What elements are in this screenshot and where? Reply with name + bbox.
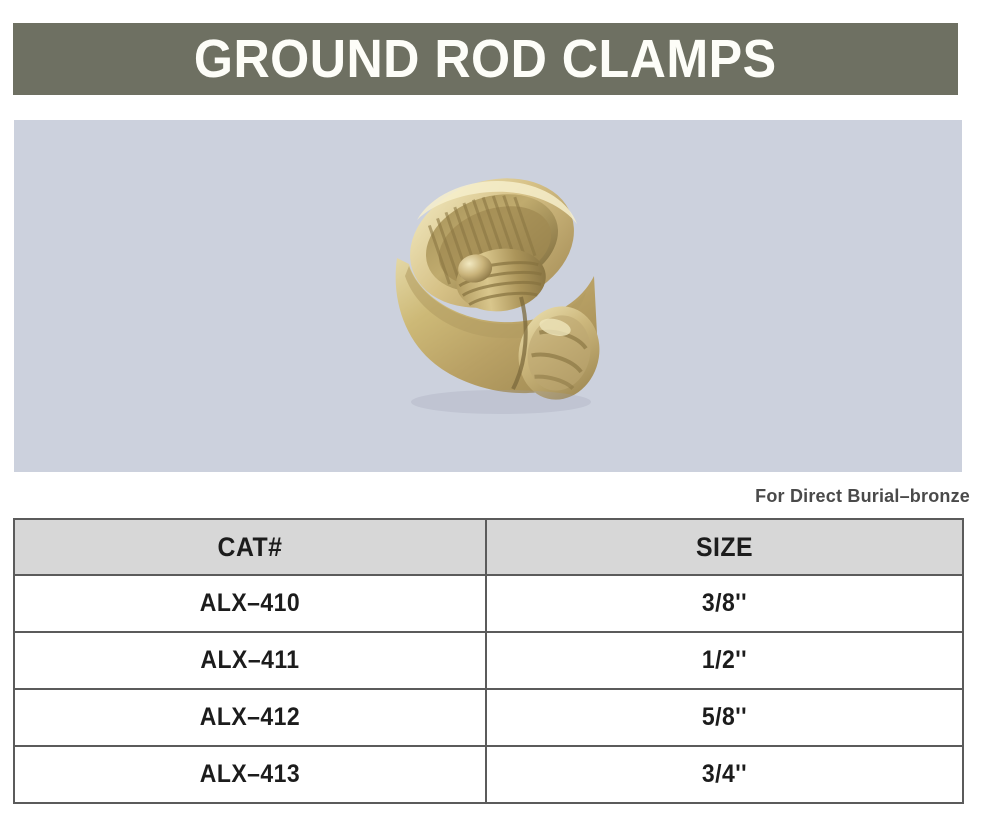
cell-size: 1/2'' bbox=[486, 632, 963, 689]
cell-size-value: 3/4'' bbox=[506, 760, 943, 789]
table-row: ALX–411 1/2'' bbox=[14, 632, 963, 689]
cell-cat: ALX–411 bbox=[14, 632, 486, 689]
table-body: ALX–410 3/8'' ALX–411 1/2'' ALX–412 bbox=[14, 575, 963, 803]
table-header: CAT# SIZE bbox=[14, 519, 963, 575]
cell-cat-value: ALX–411 bbox=[34, 646, 466, 675]
column-header-size-label: SIZE bbox=[506, 532, 943, 563]
cell-cat-value: ALX–410 bbox=[34, 589, 466, 618]
page-title-banner: GROUND ROD CLAMPS bbox=[13, 23, 958, 95]
column-header-cat-label: CAT# bbox=[34, 532, 466, 563]
ground-rod-clamp-image bbox=[373, 166, 633, 421]
column-header-size: SIZE bbox=[486, 519, 963, 575]
table-caption: For Direct Burial–bronze bbox=[755, 486, 970, 507]
column-header-cat: CAT# bbox=[14, 519, 486, 575]
page-title: GROUND ROD CLAMPS bbox=[194, 32, 777, 86]
cell-size: 3/4'' bbox=[486, 746, 963, 803]
cell-cat-value: ALX–412 bbox=[34, 703, 466, 732]
table-row: ALX–412 5/8'' bbox=[14, 689, 963, 746]
catalog-page: GROUND ROD CLAMPS bbox=[0, 0, 984, 838]
table-row: ALX–410 3/8'' bbox=[14, 575, 963, 632]
cell-cat: ALX–413 bbox=[14, 746, 486, 803]
specification-table: CAT# SIZE ALX–410 3/8'' ALX–411 bbox=[13, 518, 964, 804]
cell-size-value: 5/8'' bbox=[506, 703, 943, 732]
cell-size-value: 3/8'' bbox=[506, 589, 943, 618]
cell-cat: ALX–410 bbox=[14, 575, 486, 632]
cell-cat: ALX–412 bbox=[14, 689, 486, 746]
cell-size: 5/8'' bbox=[486, 689, 963, 746]
cell-size: 3/8'' bbox=[486, 575, 963, 632]
cell-size-value: 1/2'' bbox=[506, 646, 943, 675]
table-row: ALX–413 3/4'' bbox=[14, 746, 963, 803]
table-header-row: CAT# SIZE bbox=[14, 519, 963, 575]
cell-cat-value: ALX–413 bbox=[34, 760, 466, 789]
product-image-panel bbox=[14, 120, 962, 472]
